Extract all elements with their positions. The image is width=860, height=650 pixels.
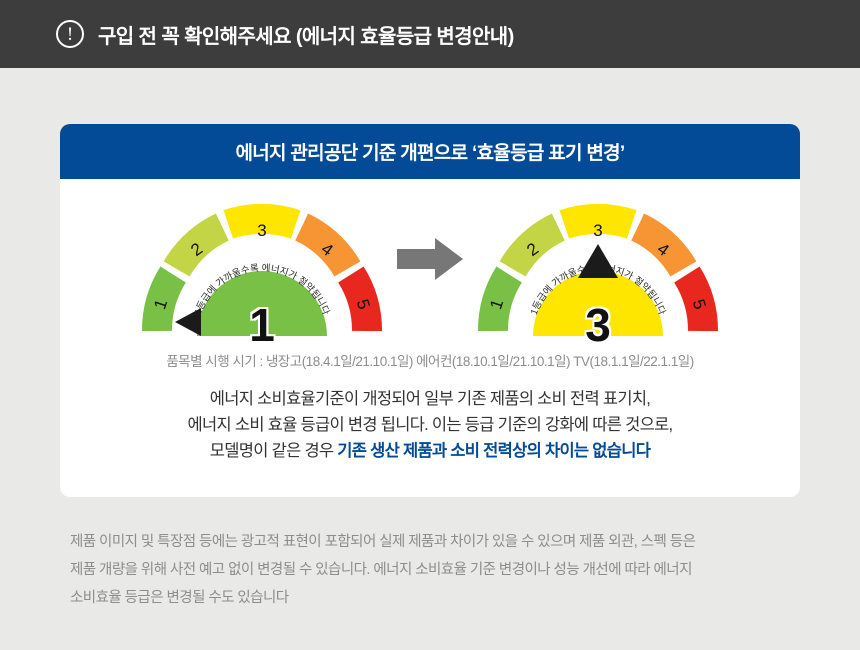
right-arrow-shape bbox=[397, 238, 463, 280]
card-heading-text: 에너지 관리공단 기준 개편으로 ‘효율등급 표기 변경’ bbox=[235, 138, 624, 165]
body-line-3-highlight: 기존 생산 제품과 소비 전력상의 차이는 없습니다 bbox=[337, 442, 650, 460]
body-line-2: 에너지 소비 효율 등급이 변경 됩니다. 이는 등급 기준의 강화에 따른 것… bbox=[60, 412, 800, 438]
disclaimer-line-3: 소비효율 등급은 변경될 수도 있습니다 bbox=[70, 584, 792, 612]
before-gauge: 1 2 3 4 5 1등급에 가까울수록 에너지가 절약됩니다 1 bbox=[137, 196, 387, 344]
disclaimer-line-2: 제품 개량을 위해 사전 예고 없이 변경될 수 있습니다. 에너지 소비효율 … bbox=[70, 556, 792, 584]
disclaimer-line-1: 제품 이미지 및 특장점 등에는 광고적 표현이 포함되어 실제 제품과 차이가… bbox=[70, 528, 792, 556]
before-label-3: 3 bbox=[257, 221, 266, 240]
transition-arrow bbox=[387, 196, 473, 344]
gauge-comparison-row: 1 2 3 4 5 1등급에 가까울수록 에너지가 절약됩니다 1 bbox=[60, 179, 800, 344]
schedule-note: 품목별 시행 시기 : 냉장고(18.4.1일/21.10.1일) 에어컨(18… bbox=[60, 350, 800, 370]
body-line-1: 에너지 소비효율기준이 개정되어 일부 기존 제품의 소비 전력 표기치, bbox=[60, 386, 800, 412]
body-copy: 에너지 소비효율기준이 개정되어 일부 기존 제품의 소비 전력 표기치, 에너… bbox=[60, 386, 800, 464]
exclamation-glyph: ! bbox=[67, 25, 73, 44]
after-grade-number: 3 bbox=[473, 302, 723, 348]
after-label-3: 3 bbox=[593, 221, 602, 240]
right-arrow-icon bbox=[397, 238, 463, 280]
exclamation-circle-icon: ! bbox=[56, 20, 84, 48]
disclaimer-text: 제품 이미지 및 특장점 등에는 광고적 표현이 포함되어 실제 제품과 차이가… bbox=[70, 528, 792, 612]
body-line-3-plain: 모델명이 같은 경우 bbox=[210, 442, 338, 460]
body-line-3: 모델명이 같은 경우 기존 생산 제품과 소비 전력상의 차이는 없습니다 bbox=[60, 438, 800, 464]
before-grade-number: 1 bbox=[137, 302, 387, 348]
after-pointer-triangle bbox=[578, 244, 618, 278]
page-title: 구입 전 꼭 확인해주세요 (에너지 효율등급 변경안내) bbox=[98, 20, 514, 49]
after-gauge: 1 2 3 4 5 1등급에 가까울수록 에너지가 절약됩니다 3 bbox=[473, 196, 723, 344]
energy-grade-notice-page: ! 구입 전 꼭 확인해주세요 (에너지 효율등급 변경안내) 에너지 관리공단… bbox=[0, 0, 860, 650]
notice-card: 에너지 관리공단 기준 개편으로 ‘효율등급 표기 변경’ bbox=[60, 124, 800, 497]
notice-header: ! 구입 전 꼭 확인해주세요 (에너지 효율등급 변경안내) bbox=[0, 0, 860, 68]
card-heading-bar: 에너지 관리공단 기준 개편으로 ‘효율등급 표기 변경’ bbox=[60, 124, 800, 179]
